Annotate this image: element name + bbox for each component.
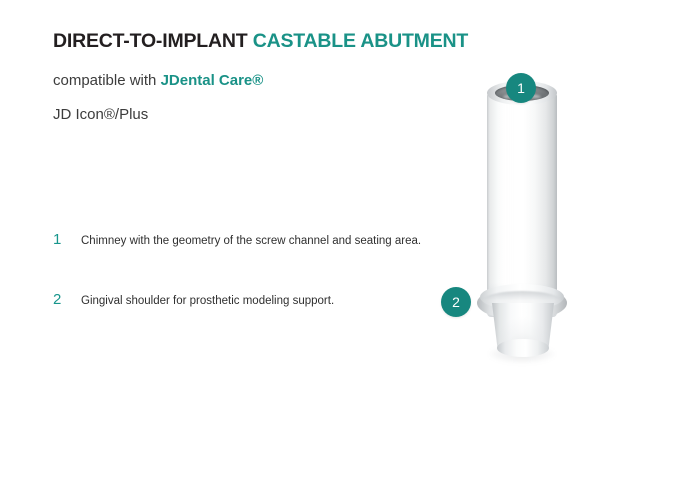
cylinder-highlight [499, 95, 515, 311]
page-title: DIRECT-TO-IMPLANT CASTABLE ABUTMENT [53, 32, 468, 52]
legend-item: 2 Gingival shoulder for prosthetic model… [53, 292, 334, 308]
compatibility-line: compatible with JDental Care® [53, 73, 263, 88]
callout-badge-2[interactable]: 2 [441, 287, 471, 317]
legend-item: 1 Chimney with the geometry of the screw… [53, 232, 421, 248]
page-title-accent: CASTABLE ABUTMENT [253, 30, 468, 52]
conical-base-bottom [497, 339, 549, 357]
brand-name: JDental Care® [161, 72, 264, 89]
legend-description: Gingival shoulder for prosthetic modelin… [81, 294, 334, 308]
model-name: JD Icon®/Plus [53, 107, 148, 122]
legend-number: 2 [53, 292, 81, 307]
compatibility-prefix: compatible with [53, 72, 161, 89]
callout-badge-1[interactable]: 1 [506, 73, 536, 103]
legend-number: 1 [53, 232, 81, 247]
legend-description: Chimney with the geometry of the screw c… [81, 234, 421, 248]
page-title-kicker: DIRECT-TO-IMPLANT [53, 30, 247, 52]
abutment-cylinder-body [487, 93, 557, 315]
product-illustration: 1 2 [425, 55, 625, 375]
